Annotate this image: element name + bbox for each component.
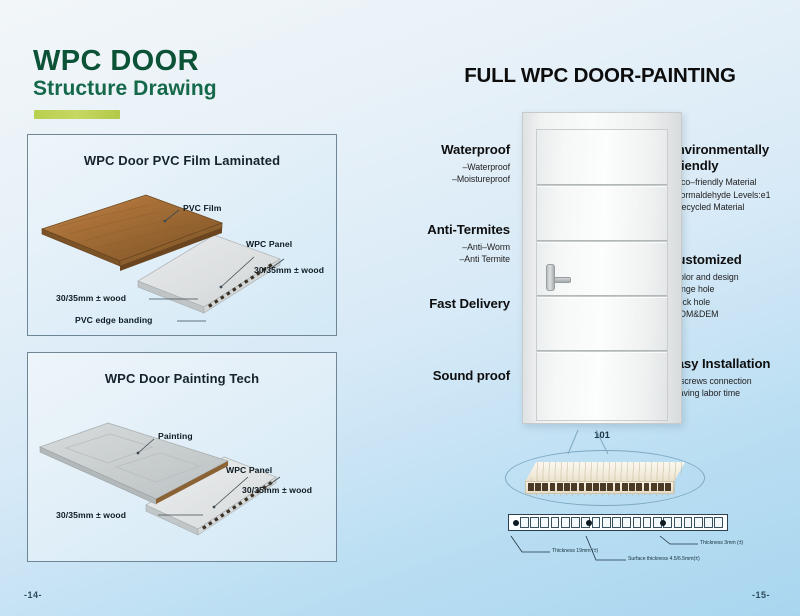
panel-cell (600, 483, 606, 491)
door-leaf (536, 129, 668, 421)
door-groove (537, 184, 667, 186)
section-cell (694, 517, 703, 528)
section-cell (714, 517, 723, 528)
dimension-leaders (400, 530, 800, 590)
feature-item: –Color and design (668, 271, 800, 283)
feature-heading: Waterproof (400, 142, 510, 158)
section-cell (592, 517, 601, 528)
dim-point-edge (660, 520, 666, 526)
panel-cell (593, 483, 599, 491)
label-wood-right: 30/35mm ± wood (254, 265, 324, 275)
feature-item: –4 screws connection (668, 375, 800, 387)
feature-item: –Hinge hole (668, 283, 800, 295)
panel-cell (586, 483, 592, 491)
accent-bar (34, 110, 120, 119)
door-frame (522, 112, 682, 424)
dim-thickness-edge: Thickness 3mm (±) (700, 540, 743, 546)
feature-item: –Lock hole (668, 296, 800, 308)
diagram-box-painting-tech: WPC Door Painting Tech (27, 352, 337, 562)
feature-waterproof: Waterproof –Waterproof –Moistureproof (400, 142, 510, 186)
label-pvc-edge-banding: PVC edge banding (75, 315, 153, 325)
diagram-box-pvc-film-laminated: WPC Door PVC Film Laminated (27, 134, 337, 336)
door-illustration: 101 (522, 112, 682, 424)
section-cell (540, 517, 549, 528)
panel-cell (636, 483, 642, 491)
panel-cell (615, 483, 621, 491)
section-cell (684, 517, 693, 528)
section-cell (674, 517, 683, 528)
panel-cell (629, 483, 635, 491)
section-cell (643, 517, 652, 528)
label-painting: Painting (158, 431, 193, 441)
feature-item: –ODM&DEM (668, 308, 800, 320)
label-wood-right-2: 30/35mm ± wood (242, 485, 312, 495)
panel-cell (571, 483, 577, 491)
feature-item: – Formaldehyde Levels:e1 (668, 189, 800, 201)
feature-items: –Waterproof –Moistureproof (400, 161, 510, 186)
left-page: WPC DOOR Structure Drawing WPC Door PVC … (0, 0, 400, 616)
feature-sound-proof: Sound proof (400, 368, 510, 384)
feature-heading: Customized (668, 252, 800, 268)
right-page: FULL WPC DOOR-PAINTING Waterproof –Water… (400, 0, 800, 616)
page-number-left: -14- (24, 590, 42, 600)
feature-item: –Anti–Worm (400, 241, 510, 253)
door-handle-icon (546, 264, 555, 291)
section-cell (602, 517, 611, 528)
feature-heading: Anti-Termites (400, 222, 510, 238)
panel-cell (564, 483, 570, 491)
right-page-title: FULL WPC DOOR-PAINTING (400, 64, 800, 88)
wpc-panel-3d (525, 462, 685, 496)
feature-item: –Waterproof (400, 161, 510, 173)
section-cell (704, 517, 713, 528)
section-cell (571, 517, 580, 528)
section-cell (612, 517, 621, 528)
feature-item: – Recycled Material (668, 201, 800, 213)
feature-customized: Customized –Color and design –Hinge hole… (668, 252, 800, 321)
feature-heading: Environmentally Friendly (668, 142, 800, 173)
feature-items: –4 screws connection –Saving labor time (668, 375, 800, 400)
label-wood-left: 30/35mm ± wood (56, 293, 126, 303)
label-wpc-panel-2: WPC Panel (226, 465, 272, 475)
panel-cell (550, 483, 556, 491)
feature-item: –Moistureproof (400, 173, 510, 185)
section-cell (633, 517, 642, 528)
panel-hollow-cells (528, 483, 671, 491)
panel-cell (658, 483, 664, 491)
feature-item: – Eco–friendly Material (668, 176, 800, 188)
feature-items: –Color and design –Hinge hole –Lock hole… (668, 271, 800, 321)
feature-item: –Saving labor time (668, 387, 800, 399)
dim-surface-thickness: Surface thickness 4.5/6.5mm(±) (628, 556, 700, 562)
feature-heading: Sound proof (400, 368, 510, 384)
panel-cell (665, 483, 671, 491)
panel-cell (528, 483, 534, 491)
diagram-1-illustration (28, 135, 337, 336)
panel-cell (557, 483, 563, 491)
page-title: WPC DOOR (33, 46, 199, 76)
feature-environmentally-friendly: Environmentally Friendly – Eco–friendly … (668, 142, 800, 214)
section-cell (530, 517, 539, 528)
feature-items: – Eco–friendly Material – Formaldehyde L… (668, 176, 800, 213)
feature-fast-delivery: Fast Delivery (400, 296, 510, 312)
section-cell (622, 517, 631, 528)
door-groove (537, 350, 667, 352)
section-cell (520, 517, 529, 528)
label-wood-left-2: 30/35mm ± wood (56, 510, 126, 520)
feature-easy-installation: Easy Installation –4 screws connection –… (668, 356, 800, 400)
dim-thickness-core: Thickness 19mm (±) (552, 548, 598, 554)
door-groove (537, 295, 667, 297)
page-subtitle: Structure Drawing (33, 78, 217, 100)
panel-cell (622, 483, 628, 491)
feature-item: –Anti Termite (400, 253, 510, 265)
section-cell (561, 517, 570, 528)
panel-cell (535, 483, 541, 491)
panel-cell (607, 483, 613, 491)
panel-cell (644, 483, 650, 491)
panel-cell (542, 483, 548, 491)
catalog-spread: WPC DOOR Structure Drawing WPC Door PVC … (0, 0, 800, 616)
feature-items: –Anti–Worm –Anti Termite (400, 241, 510, 266)
dim-point-surface (586, 520, 592, 526)
dim-point-core (513, 520, 519, 526)
feature-heading: Easy Installation (668, 356, 800, 372)
section-cell (551, 517, 560, 528)
section-cells (520, 517, 723, 528)
page-number-right: -15- (752, 590, 770, 600)
panel-cell (579, 483, 585, 491)
feature-heading: Fast Delivery (400, 296, 510, 312)
label-pvc-film: PVC Film (183, 203, 222, 213)
feature-anti-termites: Anti-Termites –Anti–Worm –Anti Termite (400, 222, 510, 266)
label-wpc-panel: WPC Panel (246, 239, 292, 249)
diagram-2-illustration (28, 353, 337, 562)
door-groove (537, 240, 667, 242)
panel-cell (651, 483, 657, 491)
